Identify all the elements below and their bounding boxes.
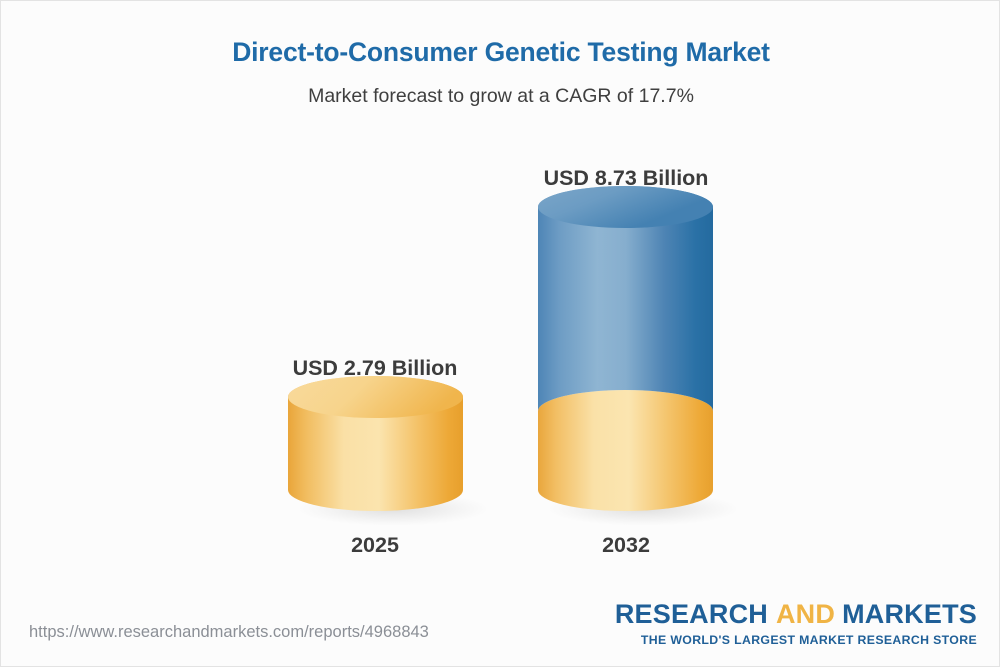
- source-url[interactable]: https://www.researchandmarkets.com/repor…: [29, 623, 429, 642]
- bar-2032: [538, 186, 713, 511]
- bar-2032-top-cap: [538, 186, 713, 228]
- bar-value-label-2032: USD 8.73 Billion: [476, 166, 776, 191]
- logo-wordmark: RESEARCHANDMARKETS: [615, 601, 977, 628]
- bar-2025: [288, 376, 463, 511]
- logo-tagline: THE WORLD'S LARGEST MARKET RESEARCH STOR…: [615, 633, 977, 647]
- logo-word-markets: MARKETS: [842, 599, 977, 629]
- bar-category-label-2032: 2032: [526, 533, 726, 558]
- logo-word-research: RESEARCH: [615, 599, 768, 629]
- bar-value-label-2025: USD 2.79 Billion: [225, 356, 525, 381]
- infographic-canvas: Direct-to-Consumer Genetic Testing Marke…: [0, 0, 1000, 667]
- research-and-markets-logo[interactable]: RESEARCHANDMARKETS THE WORLD'S LARGEST M…: [615, 601, 977, 647]
- logo-word-and: AND: [776, 599, 835, 629]
- bar-category-label-2025: 2025: [275, 533, 475, 558]
- bar-2025-top-cap: [288, 376, 463, 418]
- cylinder-bars-svg: [1, 1, 1000, 667]
- bar-2032-lower-segment: [538, 390, 713, 511]
- chart-plot-area: [1, 1, 1000, 667]
